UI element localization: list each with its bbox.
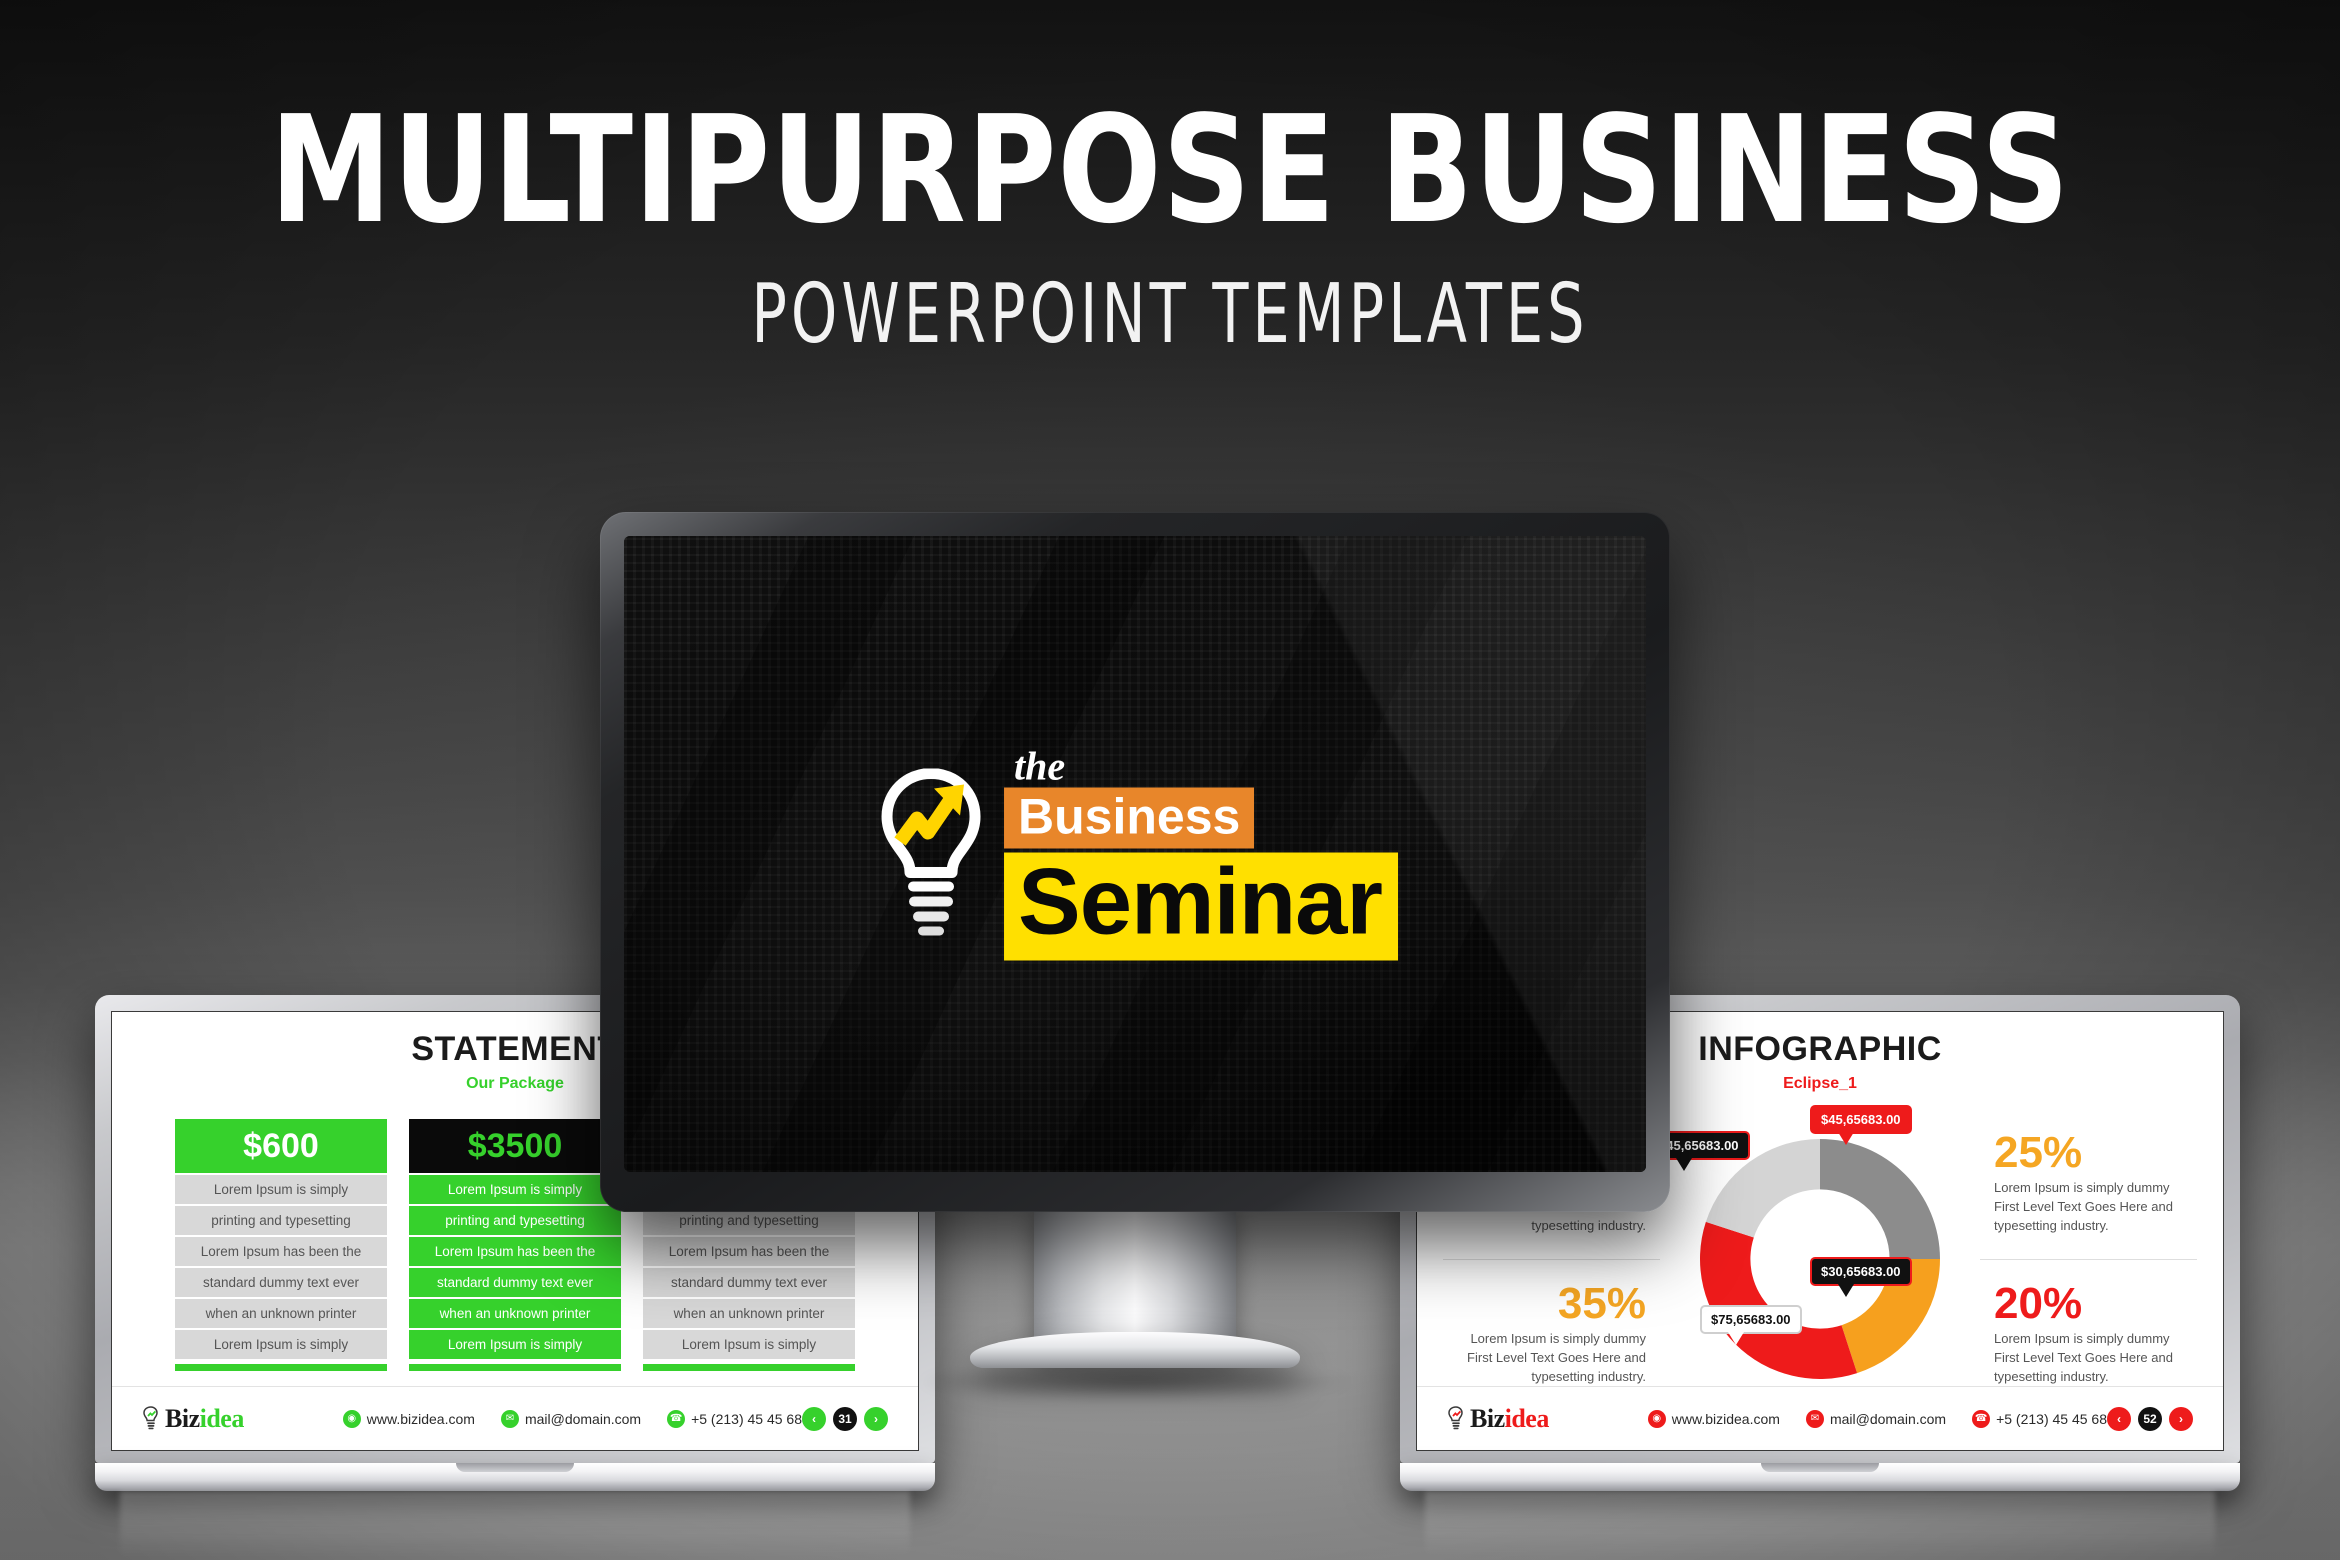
pricing-feature-row: Lorem Ipsum is simply: [409, 1175, 621, 1204]
pricing-feature-row: Lorem Ipsum is simply: [409, 1330, 621, 1359]
donut-value-tooltip: $75,65683.00: [1700, 1305, 1802, 1334]
laptop-left-base: [95, 1463, 935, 1491]
pricing-feature-row: when an unknown printer: [175, 1299, 387, 1328]
pricing-column[interactable]: $600Lorem Ipsum is simplyprinting and ty…: [175, 1119, 387, 1371]
laptop-right-reflection: [1425, 1491, 2215, 1560]
logo-business: Business: [1004, 788, 1254, 849]
page-number: 31: [833, 1407, 857, 1431]
logo-text: Bizidea: [1470, 1404, 1549, 1434]
email-text: mail@domain.com: [1830, 1411, 1946, 1427]
pricing-feature-row: Lorem Ipsum has been the: [175, 1237, 387, 1266]
monitor-stand-shadow: [920, 1364, 1350, 1400]
footer-contacts-left: ◉ www.bizidea.com ✉ mail@domain.com ☎ +5…: [343, 1410, 802, 1428]
donut-value-tooltip: $30,65683.00: [1810, 1257, 1912, 1286]
pricing-feature-row: printing and typesetting: [175, 1206, 387, 1235]
phone-text: +5 (213) 45 45 68: [1996, 1411, 2107, 1427]
pricing-feature-row: Lorem Ipsum is simply: [175, 1175, 387, 1204]
laptop-left-reflection: [120, 1491, 910, 1560]
phone-icon: ☎: [1972, 1410, 1990, 1428]
poster-header: MULTIPURPOSE BUSINESS POWERPOINT TEMPLAT…: [0, 96, 2340, 356]
lightbulb-icon: [142, 1406, 160, 1432]
slide-footer-right: Bizidea ◉ www.bizidea.com ✉ mail@domain.…: [1417, 1386, 2223, 1450]
page-subtitle: POWERPOINT TEMPLATES: [234, 274, 2106, 356]
contact-phone[interactable]: ☎ +5 (213) 45 45 68: [667, 1410, 802, 1428]
website-text: www.bizidea.com: [1672, 1411, 1780, 1427]
contact-email[interactable]: ✉ mail@domain.com: [501, 1410, 641, 1428]
logo-text: Bizidea: [165, 1404, 244, 1434]
contact-website[interactable]: ◉ www.bizidea.com: [343, 1410, 475, 1428]
stat-description: Lorem Ipsum is simply dummy First Level …: [1457, 1330, 1646, 1387]
contact-email[interactable]: ✉ mail@domain.com: [1806, 1410, 1946, 1428]
monitor-stand-foot: [970, 1332, 1300, 1368]
prev-slide-button[interactable]: ‹: [2107, 1407, 2131, 1431]
pricing-feature-row: standard dummy text ever: [175, 1268, 387, 1297]
business-seminar-logo: the Business Seminar: [872, 748, 1398, 961]
logo-biz: Biz: [1470, 1404, 1505, 1433]
lightbulb-arrow-icon: [872, 768, 990, 940]
lightbulb-icon: [1447, 1406, 1465, 1432]
email-text: mail@domain.com: [525, 1411, 641, 1427]
contact-phone[interactable]: ☎ +5 (213) 45 45 68: [1972, 1410, 2107, 1428]
donut-value-tooltip: $45,65683.00: [1810, 1105, 1912, 1134]
page-title: MULTIPURPOSE BUSINESS: [94, 96, 2247, 244]
contact-website[interactable]: ◉ www.bizidea.com: [1648, 1410, 1780, 1428]
next-slide-button[interactable]: ›: [2169, 1407, 2193, 1431]
laptop-right-base: [1400, 1463, 2240, 1491]
pricing-feature-row: when an unknown printer: [643, 1299, 855, 1328]
stat-percentage: 25%: [1994, 1131, 2183, 1175]
website-text: www.bizidea.com: [367, 1411, 475, 1427]
desktop-monitor: the Business Seminar: [600, 512, 1670, 1212]
slide-pager-left: ‹ 31 ›: [802, 1407, 888, 1431]
seminar-wordmark: the Business Seminar: [1004, 748, 1398, 961]
bizidea-logo: Bizidea: [142, 1404, 343, 1434]
logo-biz: Biz: [165, 1404, 200, 1433]
footer-contacts-right: ◉ www.bizidea.com ✉ mail@domain.com ☎ +5…: [1648, 1410, 2107, 1428]
pricing-feature-row: Lorem Ipsum has been the: [643, 1237, 855, 1266]
logo-idea: idea: [200, 1404, 244, 1433]
logo-idea: idea: [1505, 1404, 1549, 1433]
pricing-feature-row: when an unknown printer: [409, 1299, 621, 1328]
pricing-footer-bar: [643, 1364, 855, 1371]
tooltip-pointer: [1676, 1158, 1692, 1171]
infographic-stat: 25%Lorem Ipsum is simply dummy First Lev…: [1980, 1109, 2197, 1259]
mail-icon: ✉: [1806, 1410, 1824, 1428]
stat-description: Lorem Ipsum is simply dummy First Level …: [1994, 1179, 2183, 1236]
pricing-column[interactable]: $3500Lorem Ipsum is simplyprinting and t…: [409, 1119, 621, 1371]
next-slide-button[interactable]: ›: [864, 1407, 888, 1431]
stat-percentage: 20%: [1994, 1282, 2183, 1326]
globe-icon: ◉: [1648, 1410, 1666, 1428]
poster-background: MULTIPURPOSE BUSINESS POWERPOINT TEMPLAT…: [0, 0, 2340, 1560]
tooltip-pointer: [1728, 1332, 1744, 1345]
donut-tooltips: $45,65683.00$45,65683.00$30,65683.00$75,…: [1660, 1109, 1980, 1409]
tooltip-pointer: [1838, 1132, 1854, 1145]
logo-seminar: Seminar: [1004, 853, 1398, 961]
stat-percentage: 35%: [1558, 1282, 1646, 1326]
phone-icon: ☎: [667, 1410, 685, 1428]
pricing-price: $3500: [409, 1119, 621, 1173]
monitor-stand-neck: [1034, 1202, 1236, 1352]
pricing-price: $600: [175, 1119, 387, 1173]
globe-icon: ◉: [343, 1410, 361, 1428]
pricing-feature-row: printing and typesetting: [409, 1206, 621, 1235]
slide-pager-right: ‹ 52 ›: [2107, 1407, 2193, 1431]
pricing-feature-row: standard dummy text ever: [409, 1268, 621, 1297]
stats-column-right: 25%Lorem Ipsum is simply dummy First Lev…: [1980, 1109, 2197, 1409]
donut-chart: $45,65683.00$45,65683.00$30,65683.00$75,…: [1660, 1109, 1980, 1409]
pricing-footer-bar: [175, 1364, 387, 1371]
pricing-footer-bar: [409, 1364, 621, 1371]
pricing-feature-row: Lorem Ipsum is simply: [643, 1330, 855, 1359]
monitor-screen: the Business Seminar: [624, 536, 1646, 1172]
mail-icon: ✉: [501, 1410, 519, 1428]
bizidea-logo: Bizidea: [1447, 1404, 1648, 1434]
logo-the: the: [1014, 748, 1065, 786]
pricing-feature-row: Lorem Ipsum is simply: [175, 1330, 387, 1359]
slide-footer-left: Bizidea ◉ www.bizidea.com ✉ mail@domain.…: [112, 1386, 918, 1450]
tooltip-pointer: [1838, 1284, 1854, 1297]
prev-slide-button[interactable]: ‹: [802, 1407, 826, 1431]
pricing-feature-row: standard dummy text ever: [643, 1268, 855, 1297]
page-number: 52: [2138, 1407, 2162, 1431]
stat-description: Lorem Ipsum is simply dummy First Level …: [1994, 1330, 2183, 1387]
pricing-feature-row: Lorem Ipsum has been the: [409, 1237, 621, 1266]
monitor-bezel: the Business Seminar: [600, 512, 1670, 1212]
phone-text: +5 (213) 45 45 68: [691, 1411, 802, 1427]
